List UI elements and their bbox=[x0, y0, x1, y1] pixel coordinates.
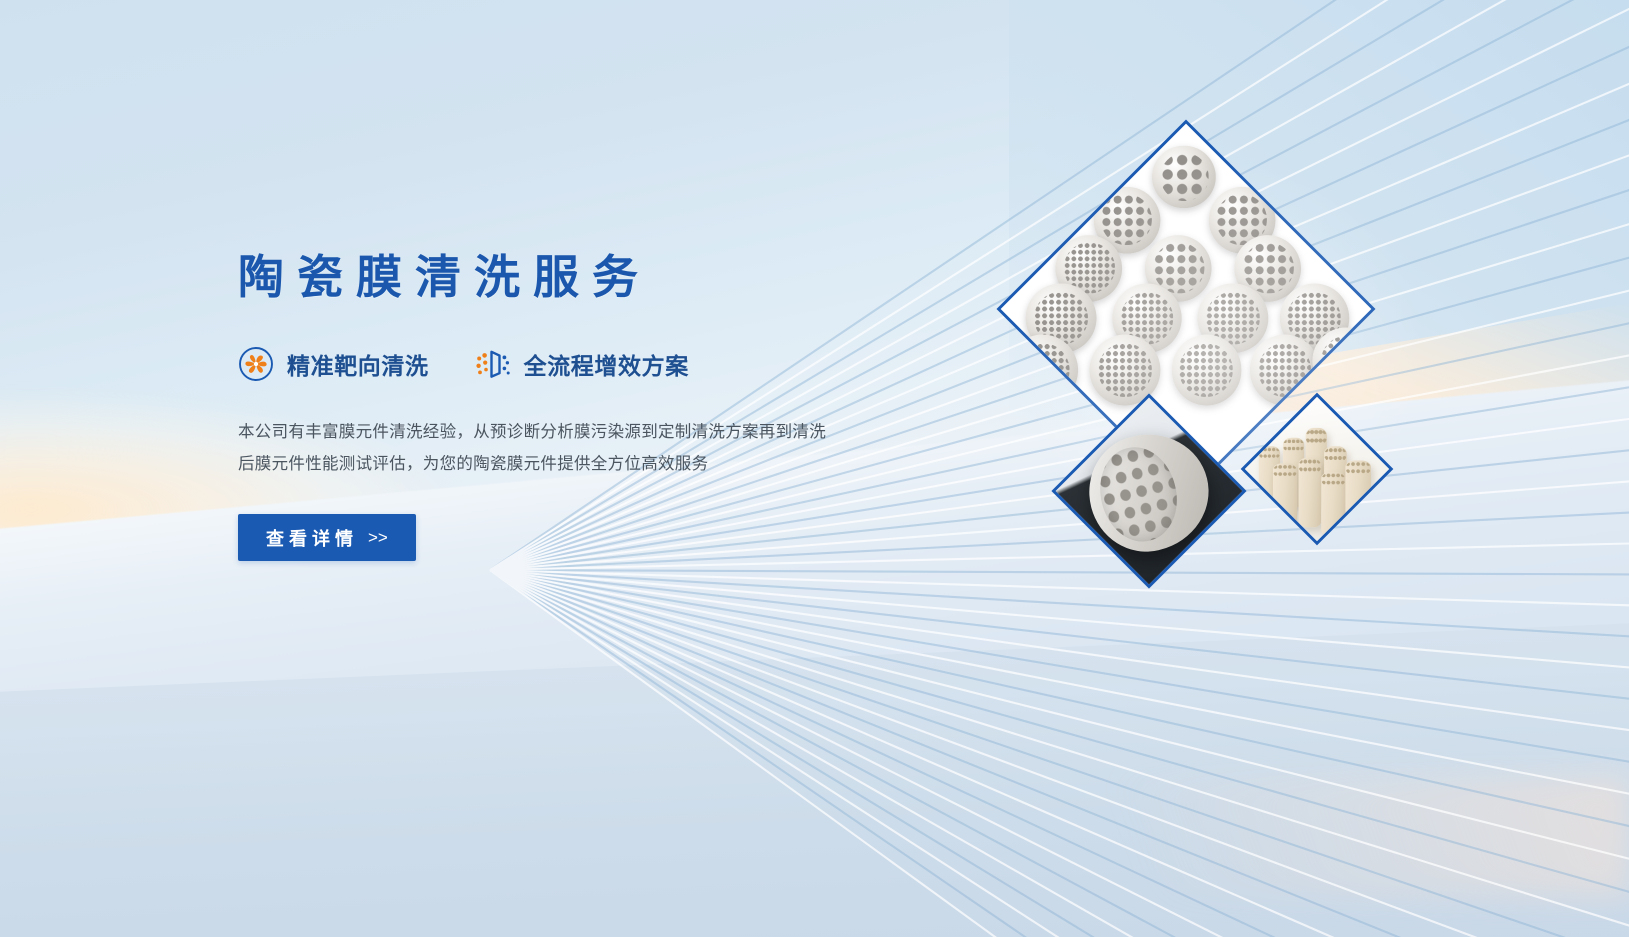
feature-item-full-process: 全流程增效方案 bbox=[475, 346, 689, 382]
description-line-1: 本公司有丰富膜元件清洗经验，从预诊断分析膜污染源到定制清洗方案再到清洗 bbox=[238, 416, 898, 448]
chevron-right-icon: >> bbox=[368, 528, 388, 548]
hero-banner: 陶瓷膜清洗服务 bbox=[0, 0, 1629, 937]
feature-label-full-process: 全流程增效方案 bbox=[524, 347, 689, 381]
feature-item-precision-cleaning: 精准靶向清洗 bbox=[238, 346, 429, 382]
feature-label-precision-cleaning: 精准靶向清洗 bbox=[287, 347, 429, 381]
description-line-2: 后膜元件性能测试评估，为您的陶瓷膜元件提供全方位高效服务 bbox=[238, 448, 898, 480]
view-details-button[interactable]: 查看详情 >> bbox=[238, 514, 416, 561]
flow-arrow-icon bbox=[475, 346, 511, 382]
feature-list: 精准靶向清洗 bbox=[238, 346, 938, 382]
membrane-tube-closeup bbox=[1077, 422, 1221, 564]
pinwheel-icon bbox=[238, 346, 274, 382]
diamond-image-cluster bbox=[1020, 150, 1440, 650]
background-warm-streak bbox=[929, 777, 1629, 897]
view-details-label: 查看详情 bbox=[266, 525, 358, 551]
page-title: 陶瓷膜清洗服务 bbox=[238, 250, 938, 304]
photo-cream-tubes bbox=[1245, 397, 1390, 542]
hero-content: 陶瓷膜清洗服务 bbox=[238, 250, 938, 561]
hero-description: 本公司有丰富膜元件清洗经验，从预诊断分析膜污染源到定制清洗方案再到清洗 后膜元件… bbox=[238, 416, 898, 480]
